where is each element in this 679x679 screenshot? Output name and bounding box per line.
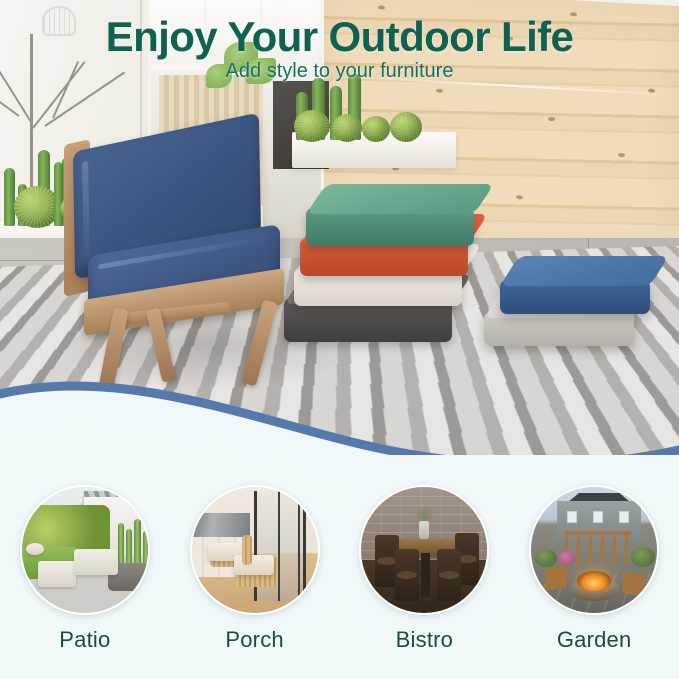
cactus <box>4 168 15 226</box>
category-label-porch: Porch <box>225 627 283 653</box>
category-bistro[interactable]: Bistro <box>349 485 499 653</box>
wooden-patio-chair <box>62 132 292 394</box>
cushion-stack <box>306 172 506 332</box>
barrel-cactus <box>332 114 362 142</box>
category-thumbnail-bistro[interactable] <box>359 485 489 615</box>
category-label-patio: Patio <box>59 627 110 653</box>
product-lifestyle-poster: Enjoy Your Outdoor Life Add style to you… <box>0 0 679 679</box>
page-title: Enjoy Your Outdoor Life <box>0 16 679 58</box>
cushion-blue <box>500 280 650 314</box>
category-thumbnail-porch[interactable] <box>190 485 320 615</box>
category-garden[interactable]: Garden <box>519 485 669 653</box>
category-label-garden: Garden <box>557 627 632 653</box>
cushion-light-gray <box>484 312 634 346</box>
cushion-green <box>306 208 474 246</box>
category-porch[interactable]: Porch <box>180 485 330 653</box>
page-subtitle: Add style to your furniture <box>0 60 679 82</box>
category-thumbnail-patio[interactable] <box>20 485 150 615</box>
barrel-cactus <box>390 112 422 142</box>
category-label-bistro: Bistro <box>396 627 453 653</box>
category-patio[interactable]: Patio <box>10 485 160 653</box>
cushion-stack-right <box>484 252 674 362</box>
category-thumbnail-garden[interactable] <box>529 485 659 615</box>
barrel-cactus <box>362 116 390 142</box>
category-section: Patio <box>0 455 679 679</box>
category-list: Patio <box>0 485 679 620</box>
barrel-cactus <box>294 110 330 142</box>
